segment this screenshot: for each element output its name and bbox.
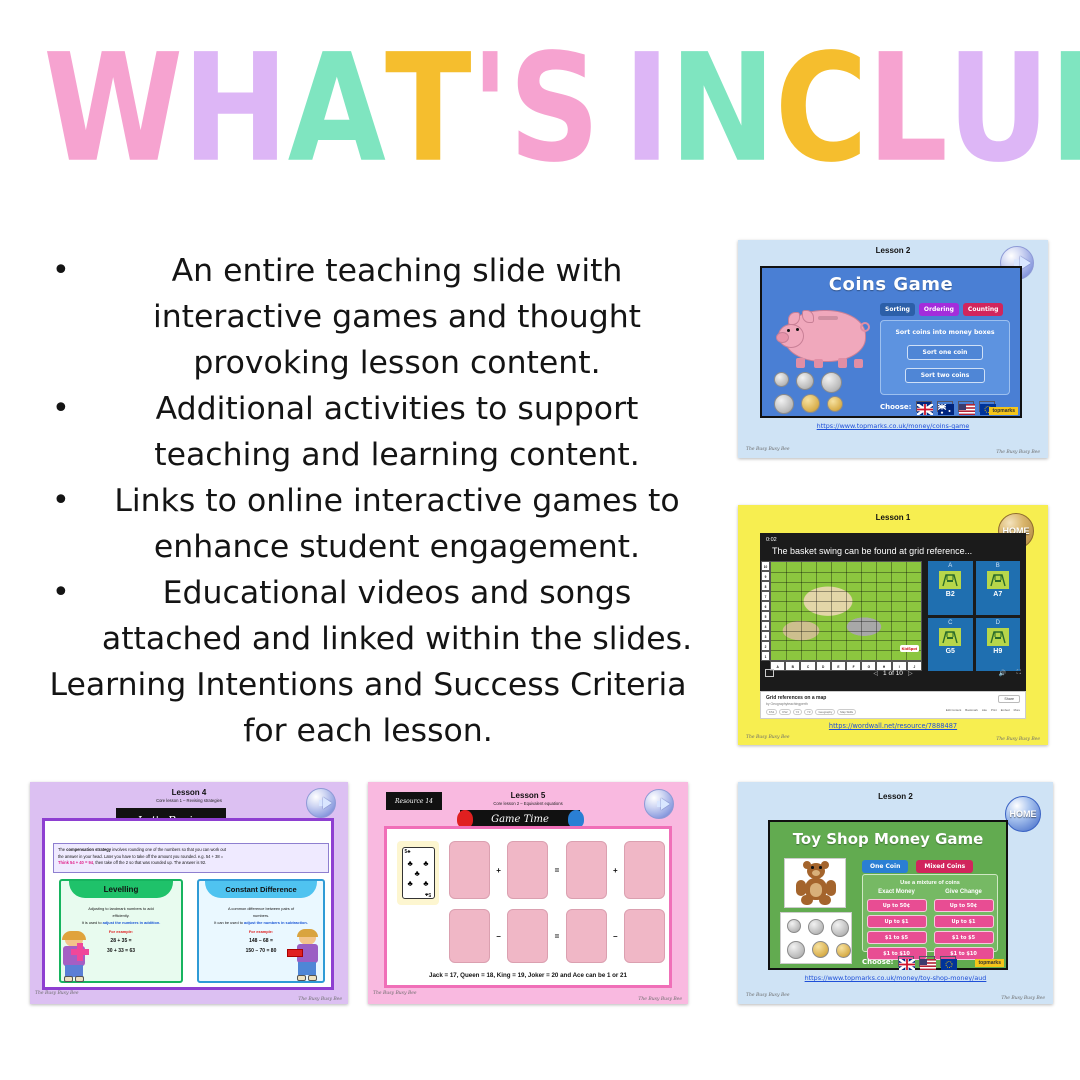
info-line-3: Think 54 + 40 = 94, then take off the 2 … [58, 860, 324, 867]
constant-difference-heading: Constant Difference [205, 881, 317, 898]
fullscreen-icon[interactable]: ⛶ [1017, 670, 1021, 677]
swing-icon [987, 571, 1009, 589]
resource-tag-row: KS1KS2Y2Y3GeographyMap Skills [766, 709, 856, 715]
teddy-bear-image [784, 858, 846, 908]
uk-flag-icon[interactable] [916, 401, 932, 412]
coins-instruction-panel: Sort coins into money boxes Sort one coi… [880, 320, 1010, 395]
grid-row-label: 1 [761, 651, 770, 661]
exact-money-button-column: Up to 50¢Up to $1$1 to $5$1 to $10 [867, 899, 927, 963]
answer-letter: B [996, 563, 1000, 569]
lesson5-slide-body: 5♣ 5♣ ♣ ♣ ♣ ♣ ♣ +=+ –=– Jack = 17, Queen… [384, 826, 672, 988]
info-line-1: The compensation strategy involves round… [58, 847, 324, 854]
answer-code: B2 [946, 591, 955, 598]
coins-tab-sorting[interactable]: Sorting [880, 303, 915, 316]
exact-money-button-up-to-50[interactable]: Up to 50¢ [867, 899, 927, 912]
grid-row-label: 3 [761, 631, 770, 641]
resource-tag[interactable]: Geography [815, 709, 835, 715]
feature-text-line: attached and linked within the slides. [76, 616, 718, 662]
coin-gold [801, 394, 820, 413]
card-slot[interactable] [449, 841, 490, 899]
australia-flag-icon[interactable] [937, 401, 953, 412]
title-letter: W [43, 28, 182, 190]
coin-silver [808, 919, 824, 935]
answer-tile-d[interactable]: DH9 [976, 618, 1021, 672]
watermark: The Busy Busy Bee [1001, 996, 1045, 1001]
feature-text-line: Links to online interactive games to [76, 478, 718, 524]
resource-action[interactable]: Print [991, 708, 997, 712]
feature-text-line: Educational videos and songs [76, 570, 718, 616]
coins-slide-title: Coins Game [762, 274, 1020, 295]
grid-row-label: 7 [761, 591, 770, 601]
arrow-right-icon [650, 798, 668, 810]
equation-operator: – [490, 932, 508, 941]
equation-operator: + [607, 866, 625, 875]
equation-row-2: –=– [449, 907, 665, 965]
lesson4-label: Lesson 4 [30, 788, 348, 797]
coin-gold [827, 396, 843, 412]
sort-one-coin-button[interactable]: Sort one coin [907, 345, 983, 360]
grid-row-label: 2 [761, 641, 770, 651]
grid-line [876, 562, 877, 660]
feature-list-item: enhance student engagement. [18, 524, 718, 570]
resource-action[interactable]: Bookmark [965, 708, 978, 712]
grid-row-labels: 10987654321 [761, 561, 770, 661]
resource-tag[interactable]: Y2 [793, 709, 802, 715]
give-change-button-up-to-50[interactable]: Up to 50¢ [934, 899, 994, 912]
title-letter: C [775, 28, 867, 190]
grid-row-label: 8 [761, 581, 770, 591]
exact-money-column-label: Exact Money [878, 889, 915, 895]
toyshop-slide-title: Toy Shop Money Game [770, 830, 1006, 848]
coins-slide-body: Coins Game [760, 266, 1022, 418]
coin-gold [836, 943, 851, 958]
coin-silver [774, 394, 794, 414]
coins-panel-heading: Sort coins into money boxes [881, 329, 1009, 336]
feature-list-item: provoking lesson content. [18, 340, 718, 386]
give-change-button-column: Up to 50¢Up to $1$1 to $5$1 to $10 [934, 899, 994, 963]
coin-row-1 [774, 372, 842, 393]
resource-action[interactable]: Edit Content [946, 708, 961, 712]
grid-line [771, 650, 921, 651]
equation-operator: – [607, 932, 625, 941]
info-line-2: the answer in your head. Later you have … [58, 854, 324, 861]
resource-tag[interactable]: KS1 [766, 709, 777, 715]
watermark: The Busy Busy Bee [746, 735, 790, 740]
watermark: The Busy Busy Bee [638, 997, 682, 1002]
thumbnail-lesson5-game-time[interactable]: Resource 14 Lesson 5 Core lesson 2 – Equ… [368, 782, 688, 1004]
quiz-progress: 1 of 10 [883, 670, 903, 677]
coins-tab-ordering[interactable]: Ordering [919, 303, 959, 316]
equation-operator: = [548, 932, 566, 941]
grid-line [771, 611, 921, 612]
watermark: The Busy Busy Bee [746, 447, 790, 452]
coin-silver [787, 919, 801, 933]
feature-text-line: for each lesson. [18, 708, 718, 754]
answer-tile-grid: AB2BA7CG5DH9 [928, 561, 1020, 671]
eu-flag-icon[interactable] [940, 956, 956, 967]
toyshop-panel-heading: Use a mixture of coins [863, 880, 997, 886]
menu-icon[interactable] [765, 669, 774, 677]
answer-code: A7 [993, 591, 1002, 598]
resource-tag[interactable]: KS2 [779, 709, 790, 715]
title-letter: ' [471, 28, 509, 190]
feature-plain-line: Learning Intentions and Success Criteria [18, 662, 718, 708]
thumbnail-toy-shop-money-game[interactable]: Lesson 2 HOME Toy Shop Money Game [738, 782, 1053, 1004]
answer-letter: C [948, 620, 952, 626]
toyshop-options-panel: Use a mixture of coins Exact Money Give … [862, 874, 998, 952]
next-arrow-button[interactable] [644, 789, 674, 819]
toyshop-slide-body: Toy Shop Money Game [768, 820, 1008, 970]
card-slot[interactable] [507, 909, 548, 963]
card-slot[interactable] [566, 841, 607, 899]
playing-card: 5♣ 5♣ ♣ ♣ ♣ ♣ ♣ [397, 841, 439, 905]
answer-letter: D [996, 620, 1000, 626]
answer-tile-a[interactable]: AB2 [928, 561, 973, 615]
equation-operator: = [548, 866, 566, 875]
title-letter: D [1049, 28, 1080, 190]
feature-text-line: An entire teaching slide with [76, 248, 718, 294]
usa-flag-icon[interactable] [919, 956, 935, 967]
feature-list-item: interactive games and thought [18, 294, 718, 340]
watermark: The Busy Busy Bee [373, 991, 417, 996]
answer-tile-c[interactable]: CG5 [928, 618, 973, 672]
coin-gold [812, 941, 829, 958]
watermark: The Busy Busy Bee [996, 450, 1040, 455]
resource-action-row: Edit ContentBookmarkLikePrintEmbedMore [946, 708, 1020, 712]
grid-row-label: 4 [761, 621, 770, 631]
topmarks-brand-badge: topmarks [989, 407, 1018, 415]
feature-list-item: attached and linked within the slides. [18, 616, 718, 662]
map-grid-image: KidSpot [770, 561, 922, 661]
coin-silver [831, 919, 849, 937]
info-pink-term: Think 54 + 40 = 94 [58, 860, 93, 865]
choose-label: Choose: [862, 958, 893, 966]
feature-plain-line: for each lesson. [18, 708, 718, 754]
topmarks-brand-badge: topmarks [975, 959, 1004, 967]
home-button[interactable]: HOME [1005, 796, 1041, 832]
title-letter: L [867, 28, 947, 190]
toyshop-tab-one-coin[interactable]: One Coin [862, 860, 908, 873]
card-slot[interactable] [566, 909, 607, 963]
lesson4-slide-body: The compensation strategy involves round… [42, 818, 334, 990]
title-letter: H [182, 28, 287, 190]
answer-code: G5 [946, 648, 955, 655]
give-change-column-label: Give Change [945, 889, 982, 895]
wordwall-url[interactable]: https://wordwall.net/resource/7888487 [738, 722, 1048, 730]
answer-letter: A [948, 563, 952, 569]
coins-tab-row: SortingOrderingCounting [880, 303, 1003, 316]
card-slot[interactable] [507, 841, 548, 899]
title-letter: I [623, 28, 669, 190]
card-slot[interactable] [624, 909, 665, 963]
quiz-question: The basket swing can be found at grid re… [772, 546, 1020, 556]
grid-row-label: 5 [761, 611, 770, 621]
uk-flag-icon[interactable] [898, 956, 914, 967]
game-time-text: Game Time [491, 814, 549, 825]
coins-choose-row: Choose: [880, 401, 995, 412]
toyshop-tab-row: One CoinMixed Coins [862, 860, 973, 873]
toyshop-url[interactable]: https://www.topmarks.co.uk/money/toy-sho… [738, 974, 1053, 982]
watermark: The Busy Busy Bee [298, 997, 342, 1002]
next-arrow-button[interactable] [306, 788, 336, 818]
compensation-info-box: The compensation strategy involves round… [53, 843, 329, 873]
card-rank: 5♣ [405, 849, 411, 855]
levelling-card: Levelling Adjusting to landmark numbers … [59, 879, 183, 983]
title-letter: T [385, 28, 471, 190]
choose-label: Choose: [880, 403, 911, 411]
watermark: The Busy Busy Bee [746, 993, 790, 998]
quiz-player-bar: ◁ 1 of 10 ▷ 🔊 ⛶ [760, 667, 1026, 679]
equation-operator: + [490, 866, 508, 875]
grid-row-label: 9 [761, 571, 770, 581]
constant-difference-card: Constant Difference A common difference … [197, 879, 325, 983]
title-letter: A [288, 28, 385, 190]
feature-text-line: Learning Intentions and Success Criteria [18, 662, 718, 708]
thumbnail-wordwall-quiz[interactable]: Lesson 1 HOME 0:02 The basket swing can … [738, 505, 1048, 745]
coin-silver [796, 372, 814, 390]
lesson5-label: Lesson 5 [368, 791, 688, 800]
coin-silver [774, 372, 789, 387]
levelling-heading: Levelling [69, 881, 173, 898]
feature-text-line: Additional activities to support [76, 386, 718, 432]
feature-list: •An entire teaching slide withinteractiv… [18, 248, 718, 754]
coins-game-url[interactable]: https://www.topmarks.co.uk/money/coins-g… [738, 422, 1048, 430]
feature-text-line: enhance student engagement. [76, 524, 718, 570]
toyshop-lesson-label: Lesson 2 [738, 792, 1053, 801]
thumbnail-lesson4-revise[interactable]: Lesson 4 Core lesson 1 – Revising strate… [30, 782, 348, 1004]
answer-tile-b[interactable]: BA7 [976, 561, 1021, 615]
give-change-button-1-to-5[interactable]: $1 to $5 [934, 931, 994, 944]
feature-list-item: teaching and learning content. [18, 432, 718, 478]
resource-action[interactable]: Like [982, 708, 987, 712]
coin-silver [821, 372, 842, 393]
card-slot[interactable] [449, 909, 490, 963]
lesson4-sublabel: Core lesson 1 – Revising strategies [30, 798, 348, 803]
arrow-right-icon [312, 797, 330, 809]
usa-flag-icon[interactable] [958, 401, 974, 412]
feature-text-line: provoking lesson content. [76, 340, 718, 386]
quiz-timer: 0:02 [766, 537, 777, 543]
wordwall-resource-footer: Grid references on a map by Geographytea… [760, 691, 1026, 719]
info-bold-term: compensation strategy [66, 847, 111, 852]
coin-row-2 [774, 394, 843, 414]
watermark: The Busy Busy Bee [996, 737, 1040, 742]
piggy-bank-image [776, 302, 872, 368]
share-button[interactable]: Share [998, 695, 1020, 703]
card-slot[interactable] [624, 841, 665, 899]
swing-icon [987, 628, 1009, 646]
coins-tab-counting[interactable]: Counting [963, 303, 1004, 316]
equation-row-1: +=+ [449, 839, 665, 901]
title-space [599, 28, 623, 190]
next-icon[interactable]: ▷ [908, 670, 913, 677]
sort-two-coins-button[interactable]: Sort two coins [905, 368, 985, 383]
exact-money-button-1-to-5[interactable]: $1 to $5 [867, 931, 927, 944]
resource-action[interactable]: More [1014, 708, 1020, 712]
bullet-icon: • [18, 248, 76, 294]
title-letter: S [509, 28, 600, 190]
grid-line [771, 631, 921, 632]
girl-with-plus-clipart [57, 933, 91, 985]
whats-included-page: WHAT'S INCLUDED •An entire teaching slid… [0, 0, 1080, 1080]
resource-tag[interactable]: Y3 [804, 709, 813, 715]
coin-silver [787, 941, 805, 959]
toyshop-coin-tray [780, 912, 852, 964]
give-change-button-up-to-1[interactable]: Up to $1 [934, 915, 994, 928]
grid-line [891, 562, 892, 660]
feature-list-item: •An entire teaching slide with [18, 248, 718, 294]
grid-line [861, 562, 862, 660]
prev-icon[interactable]: ◁ [873, 670, 878, 677]
resource-title: Grid references on a map [766, 695, 826, 701]
grid-line [771, 640, 921, 641]
bullet-icon: • [18, 478, 76, 524]
resource-action[interactable]: Embed [1001, 708, 1010, 712]
title-letter: N [669, 28, 774, 190]
feature-list-item: •Links to online interactive games to [18, 478, 718, 524]
swing-icon [939, 628, 961, 646]
feature-list-item: •Educational videos and songs [18, 570, 718, 616]
lesson5-sublabel: Core lesson 2 – Equivalent equations [368, 801, 688, 806]
wordwall-player: 0:02 The basket swing can be found at gr… [760, 533, 1026, 691]
feature-text-line: interactive games and thought [76, 294, 718, 340]
grid-row-label: 10 [761, 561, 770, 571]
page-title: WHAT'S INCLUDED [43, 28, 1037, 190]
resource-meta: by Geographyteachingperth [766, 702, 808, 706]
toyshop-tab-mixed-coins[interactable]: Mixed Coins [916, 860, 973, 873]
exact-money-button-up-to-1[interactable]: Up to $1 [867, 915, 927, 928]
feature-text-line: teaching and learning content. [76, 432, 718, 478]
bullet-icon: • [18, 570, 76, 616]
boy-with-minus-clipart [291, 931, 325, 985]
grid-row-label: 6 [761, 601, 770, 611]
volume-icon[interactable]: 🔊 [999, 670, 1006, 677]
card-value-legend: Jack = 17, Queen = 18, King = 19, Joker … [387, 972, 669, 979]
grid-line [771, 621, 921, 622]
bullet-icon: • [18, 386, 76, 432]
title-letter: U [947, 28, 1049, 190]
thumbnail-coins-game[interactable]: Lesson 2 Coins Game [738, 240, 1048, 458]
resource-tag[interactable]: Map Skills [837, 709, 856, 715]
swing-icon [939, 571, 961, 589]
answer-code: H9 [993, 648, 1002, 655]
feature-list-item: •Additional activities to support [18, 386, 718, 432]
toyshop-choose-row: Choose: [862, 956, 956, 967]
watermark: The Busy Busy Bee [35, 991, 79, 996]
